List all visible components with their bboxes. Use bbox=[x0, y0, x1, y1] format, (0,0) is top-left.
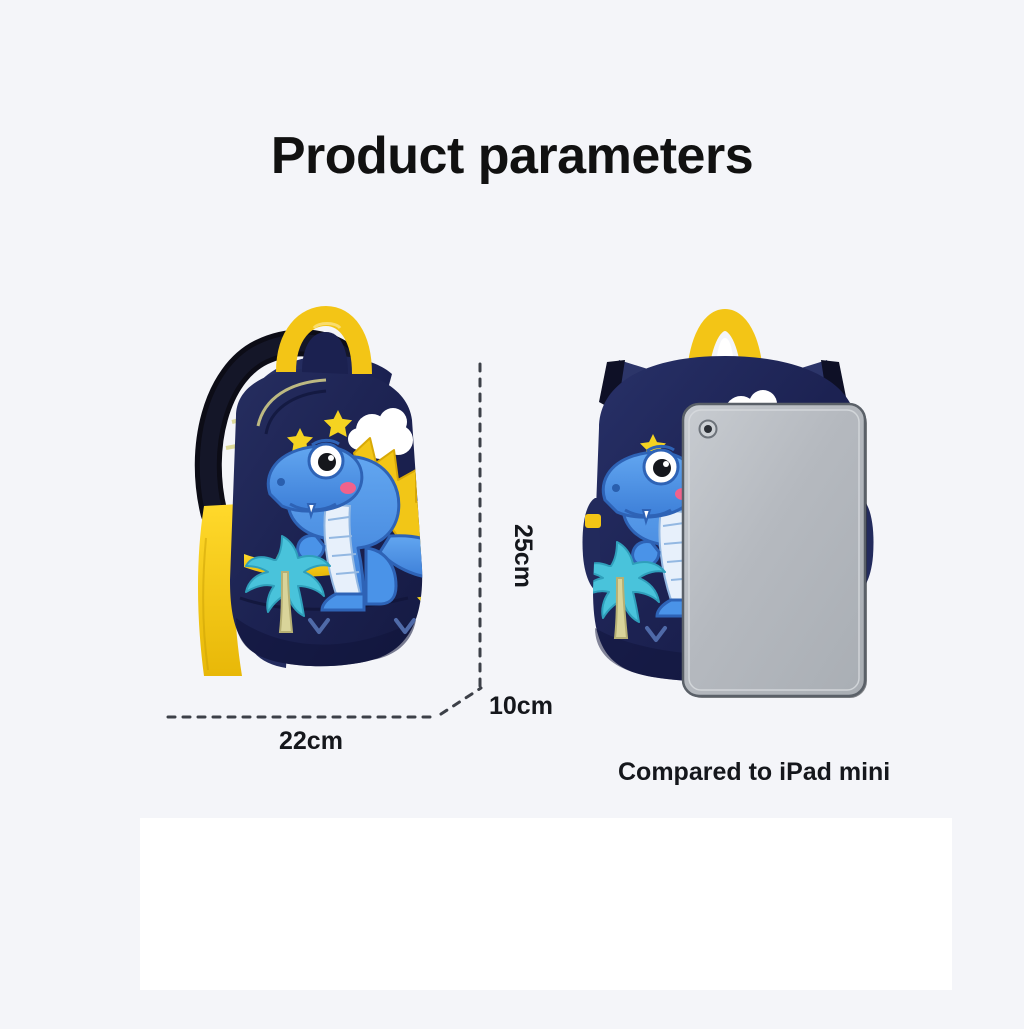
ipad-mini-overlay bbox=[683, 404, 867, 698]
infographic-page: Product parameters bbox=[0, 0, 1024, 1024]
product-image-front-view bbox=[565, 298, 905, 708]
bottom-blank-panel bbox=[140, 818, 952, 990]
product-image-side-view bbox=[140, 298, 490, 718]
comparison-caption: Compared to iPad mini bbox=[618, 758, 890, 787]
